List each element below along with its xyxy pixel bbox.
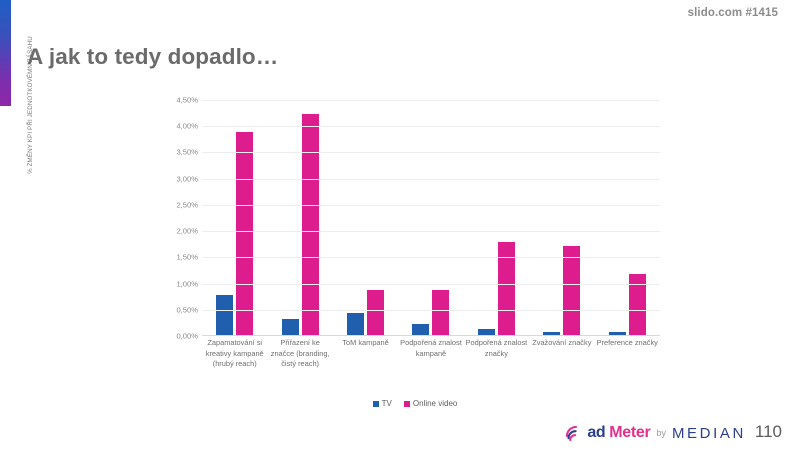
x-axis-tick-label: Podpořená znalost značky bbox=[464, 338, 529, 370]
gridline bbox=[202, 100, 660, 101]
bar-online-video[interactable] bbox=[432, 290, 449, 335]
y-axis-tick-labels: 4,50%4,00%3,50%3,00%2,50%2,00%1,50%1,00%… bbox=[156, 100, 198, 336]
bar-group bbox=[398, 100, 463, 335]
legend-label: TV bbox=[382, 399, 392, 408]
gridline bbox=[202, 126, 660, 127]
x-axis-tick-label: Podpořená znalost kampaně bbox=[398, 338, 463, 370]
slido-tag: slido.com #1415 bbox=[688, 7, 778, 19]
admeter-wifi-icon bbox=[566, 425, 583, 441]
bar-group bbox=[202, 100, 267, 335]
y-axis-tick-label: 1,00% bbox=[176, 279, 198, 288]
bar-group bbox=[333, 100, 398, 335]
bar-tv[interactable] bbox=[543, 332, 560, 335]
footer: adMeter by MEDIAN 110 bbox=[566, 422, 782, 442]
gridline bbox=[202, 257, 660, 258]
legend-item[interactable]: Online video bbox=[404, 399, 457, 408]
bar-group bbox=[267, 100, 332, 335]
y-axis-tick-label: 3,50% bbox=[176, 148, 198, 157]
x-axis-tick-label: ToM kampaně bbox=[333, 338, 398, 370]
legend-swatch-icon bbox=[404, 401, 410, 407]
gridline bbox=[202, 231, 660, 232]
y-axis-title: % ZMĚNY KPI PŘI JEDNOTKOVÉMN ZÁSAHU bbox=[27, 0, 41, 225]
logo-ad-text: ad bbox=[587, 424, 605, 442]
page-number: 110 bbox=[755, 422, 782, 442]
y-axis-tick-label: 2,50% bbox=[176, 200, 198, 209]
gridline bbox=[202, 152, 660, 153]
gridline bbox=[202, 284, 660, 285]
plot-area bbox=[202, 100, 660, 336]
x-axis-tick-label: Zvažování značky bbox=[529, 338, 594, 370]
y-axis-tick-label: 0,50% bbox=[176, 305, 198, 314]
y-axis-tick-label: 4,50% bbox=[176, 96, 198, 105]
chart-legend: TVOnline video bbox=[0, 399, 800, 408]
bar-tv[interactable] bbox=[609, 332, 626, 335]
page-title: A jak to tedy dopadlo… bbox=[27, 44, 278, 70]
gridline bbox=[202, 310, 660, 311]
bar-tv[interactable] bbox=[478, 329, 495, 335]
bar-group bbox=[529, 100, 594, 335]
logo-by-text: by bbox=[656, 428, 666, 438]
bar-tv[interactable] bbox=[216, 295, 233, 335]
x-axis-tick-label: Přiřazení ke značce (branding, čistý rea… bbox=[267, 338, 332, 370]
gridline bbox=[202, 205, 660, 206]
legend-swatch-icon bbox=[373, 401, 379, 407]
x-axis-tick-labels: Zapamatování si kreativy kampaně (hrubý … bbox=[202, 338, 660, 370]
bar-tv[interactable] bbox=[282, 319, 299, 335]
logo-median-text: MEDIAN bbox=[672, 425, 746, 442]
y-axis-tick-label: 0,00% bbox=[176, 332, 198, 341]
legend-label: Online video bbox=[413, 399, 457, 408]
bar-online-video[interactable] bbox=[498, 242, 515, 335]
gridline bbox=[202, 179, 660, 180]
bar-online-video[interactable] bbox=[563, 246, 580, 335]
bar-tv[interactable] bbox=[347, 313, 364, 335]
y-axis-tick-label: 1,50% bbox=[176, 253, 198, 262]
admeter-median-logo: adMeter by MEDIAN bbox=[566, 424, 746, 442]
y-axis-tick-label: 4,00% bbox=[176, 122, 198, 131]
bar-online-video[interactable] bbox=[367, 290, 384, 335]
bar-online-video[interactable] bbox=[236, 132, 253, 335]
bar-groups bbox=[202, 100, 660, 335]
left-accent-bar bbox=[0, 0, 11, 106]
bar-chart: % ZMĚNY KPI PŘI JEDNOTKOVÉMN ZÁSAHU 4,50… bbox=[140, 100, 660, 350]
bar-online-video[interactable] bbox=[302, 114, 319, 335]
bar-group bbox=[464, 100, 529, 335]
y-axis-tick-label: 3,00% bbox=[176, 174, 198, 183]
bar-group bbox=[595, 100, 660, 335]
x-axis-tick-label: Preference značky bbox=[595, 338, 660, 370]
logo-meter-text: Meter bbox=[609, 424, 650, 442]
bar-tv[interactable] bbox=[412, 324, 429, 335]
y-axis-tick-label: 2,00% bbox=[176, 227, 198, 236]
x-axis-tick-label: Zapamatování si kreativy kampaně (hrubý … bbox=[202, 338, 267, 370]
legend-item[interactable]: TV bbox=[373, 399, 392, 408]
